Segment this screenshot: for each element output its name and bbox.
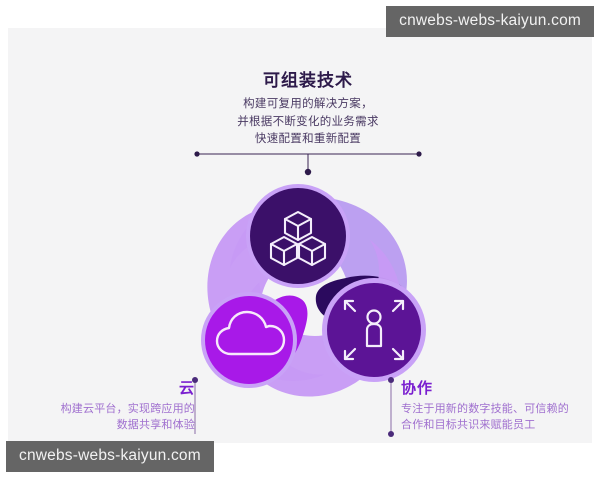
callout-composable-title: 可组装技术 xyxy=(158,70,458,91)
callout-collaboration-title: 协作 xyxy=(401,380,596,399)
watermark-top: cnwebs-webs-kaiyun.com xyxy=(386,6,594,37)
icon-disc-collaboration[interactable] xyxy=(322,278,426,382)
callout-composable: 可组装技术 构建可复用的解决方案， 并根据不断变化的业务需求 快速配置和重新配置 xyxy=(158,70,458,149)
callout-composable-body: 构建可复用的解决方案， 并根据不断变化的业务需求 快速配置和重新配置 xyxy=(158,96,458,148)
callout-collaboration-body: 专注于用新的数字技能、可信赖的 合作和目标共识来赋能员工 xyxy=(401,402,596,434)
callout-collaboration-body-line-2: 合作和目标共识来赋能员工 xyxy=(401,418,596,434)
infographic-panel: 可组装技术 构建可复用的解决方案， 并根据不断变化的业务需求 快速配置和重新配置… xyxy=(8,28,592,443)
callout-composable-body-line-3: 快速配置和重新配置 xyxy=(158,131,458,148)
callout-cloud-title: 云 xyxy=(20,380,195,399)
icon-disc-cloud[interactable] xyxy=(201,292,297,388)
watermark-bottom: cnwebs-webs-kaiyun.com xyxy=(6,441,214,472)
callout-cloud-body-line-1: 构建云平台，实现跨应用的 xyxy=(20,402,195,418)
callout-collaboration-body-line-1: 专注于用新的数字技能、可信赖的 xyxy=(401,402,596,418)
callout-collaboration: 协作 专注于用新的数字技能、可信赖的 合作和目标共识来赋能员工 xyxy=(401,380,596,434)
leader-line-composable xyxy=(194,150,422,178)
callout-cloud-body: 构建云平台，实现跨应用的 数据共享和体验 xyxy=(20,402,195,434)
leader-line-collaboration xyxy=(386,376,396,438)
callout-composable-body-line-1: 构建可复用的解决方案， xyxy=(158,96,458,113)
icon-disc-composable[interactable] xyxy=(246,184,350,288)
callout-cloud: 云 构建云平台，实现跨应用的 数据共享和体验 xyxy=(20,380,195,434)
callout-cloud-body-line-2: 数据共享和体验 xyxy=(20,418,195,434)
callout-composable-body-line-2: 并根据不断变化的业务需求 xyxy=(158,114,458,131)
